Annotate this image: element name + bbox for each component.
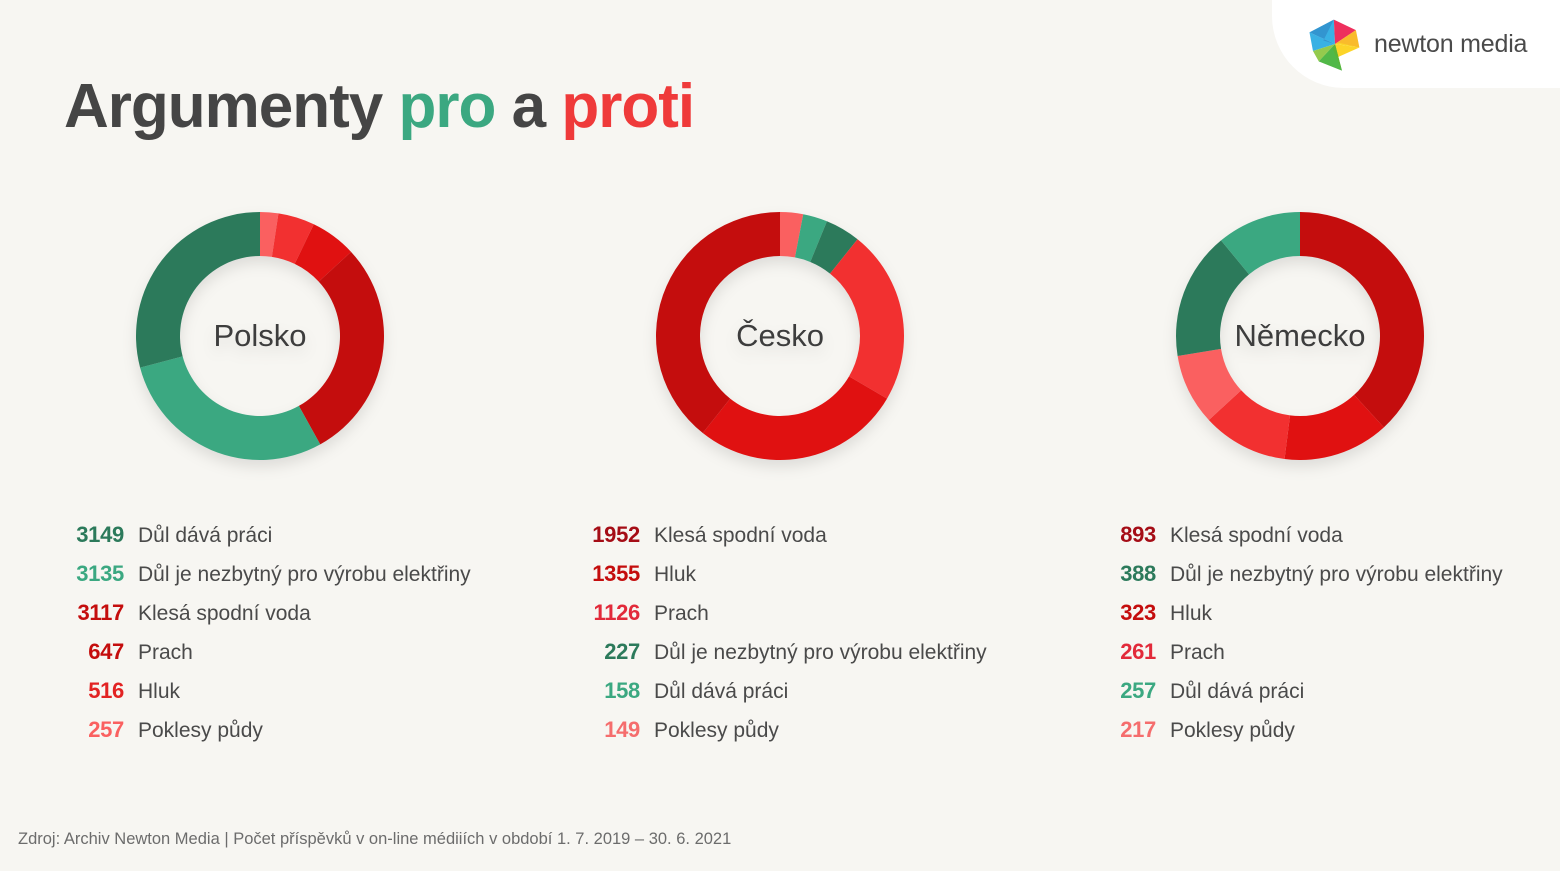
legend-label: Klesá spodní voda <box>654 524 827 548</box>
donut-slice[interactable] <box>140 356 320 460</box>
donut-chart-česko: Česko <box>644 200 916 472</box>
chart-column-česko: Česko1952Klesá spodní voda1355Hluk1126Pr… <box>520 200 1040 756</box>
legend-row[interactable]: 388Důl je nezbytný pro výrobu elektřiny <box>1088 561 1560 600</box>
donut-chart-polsko: Polsko <box>124 200 396 472</box>
legend-row[interactable]: 3135Důl je nezbytný pro výrobu elektřiny <box>56 561 520 600</box>
legend-label: Hluk <box>138 680 180 704</box>
legend-label: Důl je nezbytný pro výrobu elektřiny <box>138 563 471 587</box>
legend-row[interactable]: 227Důl je nezbytný pro výrobu elektřiny <box>572 639 1040 678</box>
legend-label: Prach <box>138 641 193 665</box>
legend-value: 3135 <box>56 561 124 587</box>
legend-label: Hluk <box>654 563 696 587</box>
legend-value: 1952 <box>572 522 640 548</box>
legend-label: Hluk <box>1170 602 1212 626</box>
chart-column-německo: Německo893Klesá spodní voda388Důl je nez… <box>1040 200 1560 756</box>
legend-label: Důl je nezbytný pro výrobu elektřiny <box>654 641 987 665</box>
legend-label: Poklesy půdy <box>654 719 779 743</box>
legend-value: 3117 <box>56 600 124 626</box>
donut-slice[interactable] <box>136 212 260 368</box>
legend-label: Poklesy půdy <box>138 719 263 743</box>
legend-row[interactable]: 158Důl dává práci <box>572 678 1040 717</box>
legend-value: 217 <box>1088 717 1156 743</box>
donut-svg <box>1164 200 1436 472</box>
legend-label: Důl dává práci <box>138 524 272 548</box>
legend-value: 3149 <box>56 522 124 548</box>
donut-slice[interactable] <box>1300 212 1424 427</box>
legend-row[interactable]: 257Poklesy půdy <box>56 717 520 756</box>
legend-label: Důl dává práci <box>1170 680 1304 704</box>
legend-value: 388 <box>1088 561 1156 587</box>
legend-row[interactable]: 323Hluk <box>1088 600 1560 639</box>
donut-svg <box>644 200 916 472</box>
brand-name: newton media <box>1374 30 1527 59</box>
donut-slice[interactable] <box>299 252 384 445</box>
legend-německo: 893Klesá spodní voda388Důl je nezbytný p… <box>1040 522 1560 756</box>
charts-container: Polsko3149Důl dává práci3135Důl je nezby… <box>0 200 1560 756</box>
legend-value: 516 <box>56 678 124 704</box>
donut-svg <box>124 200 396 472</box>
legend-row[interactable]: 1355Hluk <box>572 561 1040 600</box>
legend-row[interactable]: 257Důl dává práci <box>1088 678 1560 717</box>
legend-row[interactable]: 217Poklesy půdy <box>1088 717 1560 756</box>
legend-row[interactable]: 647Prach <box>56 639 520 678</box>
legend-value: 257 <box>56 717 124 743</box>
legend-value: 227 <box>572 639 640 665</box>
legend-label: Důl je nezbytný pro výrobu elektřiny <box>1170 563 1503 587</box>
legend-value: 158 <box>572 678 640 704</box>
legend-label: Důl dává práci <box>654 680 788 704</box>
legend-row[interactable]: 3149Důl dává práci <box>56 522 520 561</box>
legend-row[interactable]: 1126Prach <box>572 600 1040 639</box>
chart-column-polsko: Polsko3149Důl dává práci3135Důl je nezby… <box>0 200 520 756</box>
donut-slice[interactable] <box>656 212 780 433</box>
legend-label: Klesá spodní voda <box>138 602 311 626</box>
donut-chart-německo: Německo <box>1164 200 1436 472</box>
title-word-proti: proti <box>561 72 694 141</box>
title-word-a: a <box>512 72 545 141</box>
legend-polsko: 3149Důl dává práci3135Důl je nezbytný pr… <box>0 522 520 756</box>
legend-row[interactable]: 3117Klesá spodní voda <box>56 600 520 639</box>
donut-slice[interactable] <box>830 239 904 398</box>
legend-row[interactable]: 149Poklesy půdy <box>572 717 1040 756</box>
legend-česko: 1952Klesá spodní voda1355Hluk1126Prach22… <box>520 522 1040 756</box>
donut-slice[interactable] <box>703 376 887 460</box>
legend-row[interactable]: 893Klesá spodní voda <box>1088 522 1560 561</box>
title-word-argumenty: Argumenty <box>64 72 382 141</box>
newton-pinwheel-icon <box>1306 15 1364 73</box>
title-word-pro: pro <box>399 72 496 141</box>
legend-label: Prach <box>1170 641 1225 665</box>
legend-value: 323 <box>1088 600 1156 626</box>
legend-value: 647 <box>56 639 124 665</box>
legend-value: 893 <box>1088 522 1156 548</box>
legend-label: Poklesy půdy <box>1170 719 1295 743</box>
legend-label: Klesá spodní voda <box>1170 524 1343 548</box>
legend-value: 1355 <box>572 561 640 587</box>
brand-logo-badge: newton media <box>1272 0 1560 88</box>
page-title: Argumenty pro a proti <box>64 76 694 138</box>
legend-row[interactable]: 1952Klesá spodní voda <box>572 522 1040 561</box>
legend-value: 1126 <box>572 600 640 626</box>
source-note: Zdroj: Archiv Newton Media | Počet přísp… <box>18 830 731 849</box>
legend-value: 261 <box>1088 639 1156 665</box>
legend-row[interactable]: 261Prach <box>1088 639 1560 678</box>
legend-row[interactable]: 516Hluk <box>56 678 520 717</box>
legend-value: 149 <box>572 717 640 743</box>
legend-label: Prach <box>654 602 709 626</box>
legend-value: 257 <box>1088 678 1156 704</box>
